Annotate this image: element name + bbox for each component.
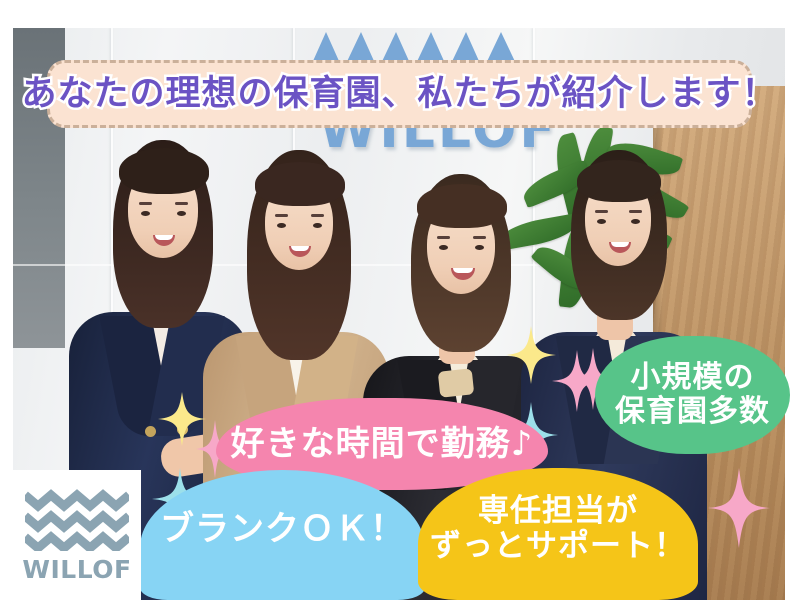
bubble-small-nurseries-line-2: 保育園多数 (615, 395, 770, 429)
sparkle-pink-wood (708, 468, 770, 548)
page-edge-left (0, 0, 13, 600)
bubble-dedicated-support-line-1: 専任担当が (430, 494, 686, 529)
bubble-blank-ok-line-1: ブランクＯＫ！ (160, 510, 405, 548)
bubble-flexible-hours-line-1: 好きな時間で勤務♪ (231, 425, 534, 463)
headline-text: あなたの理想の保育園、私たちが紹介します！ (22, 77, 778, 112)
zigzag-wave-icon (25, 489, 129, 551)
bubble-small-nurseries-line-1: 小規模の (615, 361, 770, 395)
bubble-dedicated-support-line-2: ずっとサポート！ (430, 529, 686, 564)
bubble-small-nurseries: 小規模の 保育園多数 (595, 336, 790, 454)
headline-banner: あなたの理想の保育園、私たちが紹介します！ (47, 60, 752, 128)
willof-logo-card: WILLOF (13, 470, 141, 600)
poster-canvas: WILLOF (0, 0, 800, 600)
page-edge-top (0, 0, 800, 28)
page-edge-right (785, 0, 800, 600)
sparkle-yellow-mid (506, 326, 556, 384)
willof-logo-text: WILLOF (22, 557, 131, 582)
